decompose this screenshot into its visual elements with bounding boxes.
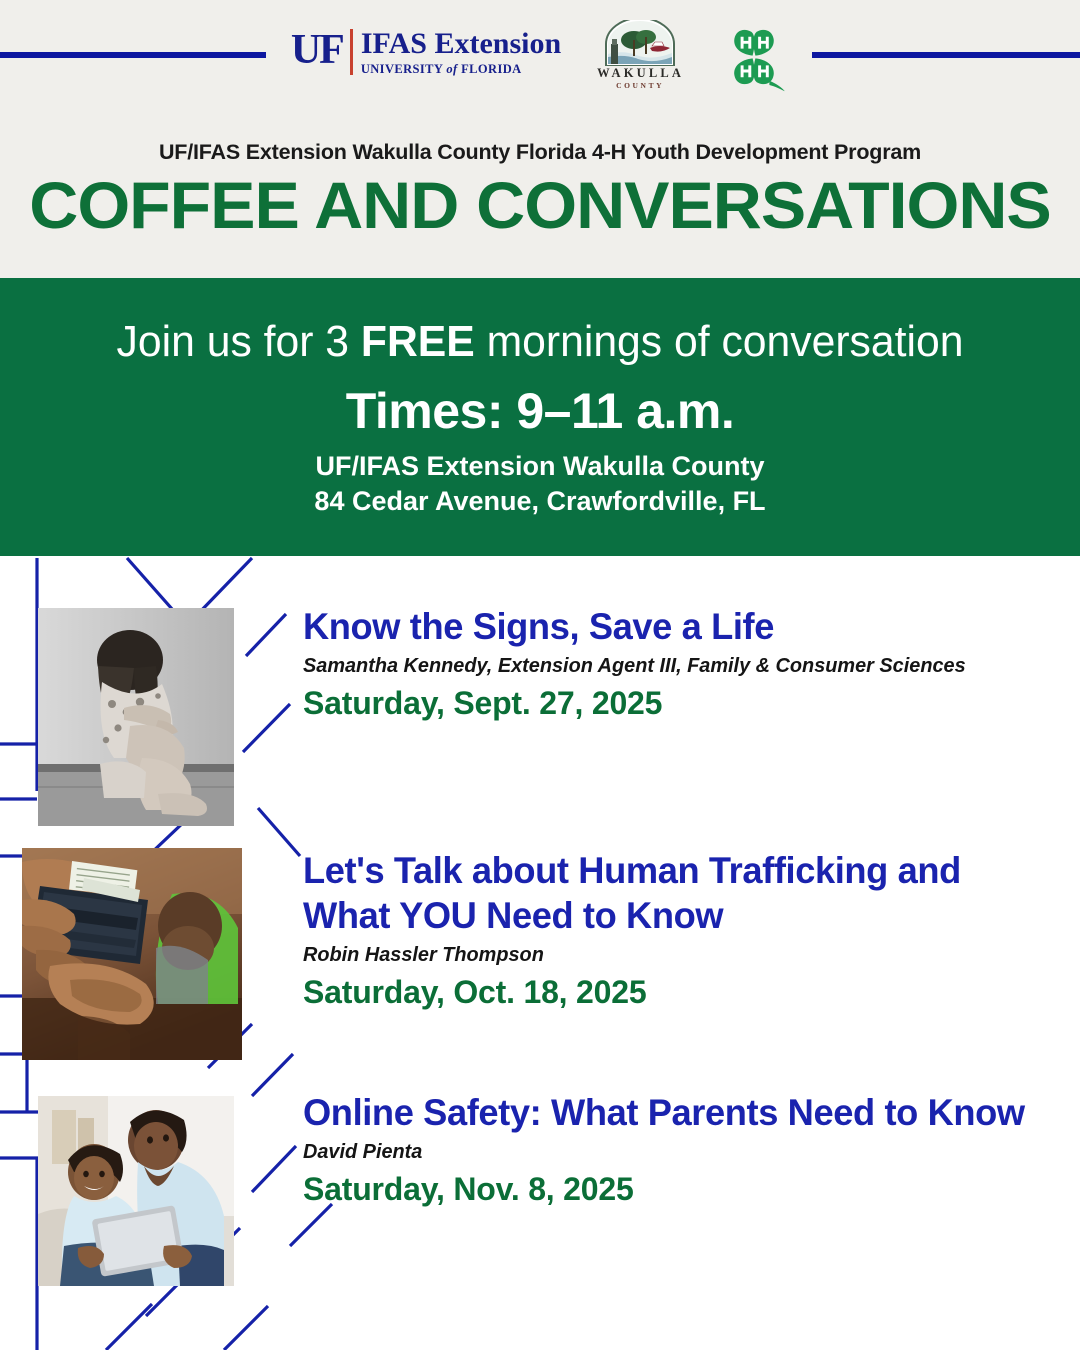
wakulla-seal-icon <box>602 20 678 66</box>
event-date: Saturday, Oct. 18, 2025 <box>303 972 1043 1012</box>
event-photo-know-the-signs <box>38 608 234 826</box>
info-banner: Join us for 3 FREE mornings of conversat… <box>0 278 1080 556</box>
event-text-block: Know the Signs, Save a Life Samantha Ken… <box>303 604 1033 723</box>
page-pretitle: UF/IFAS Extension Wakulla County Florida… <box>0 140 1080 165</box>
event-text-block: Online Safety: What Parents Need to Know… <box>303 1090 1043 1209</box>
banner-times: Times: 9–11 a.m. <box>0 382 1080 440</box>
banner-line1-post: mornings of conversation <box>475 317 964 366</box>
four-h-clover-icon <box>719 22 789 92</box>
event-speaker: Samantha Kennedy, Extension Agent III, F… <box>303 652 1011 680</box>
header-band: UF IFAS Extension UNIVERSITY of FLORIDA <box>0 0 1080 278</box>
uf-university-wordmark: UNIVERSITY of FLORIDA <box>361 61 561 77</box>
logo-row: UF IFAS Extension UNIVERSITY of FLORIDA <box>0 18 1080 96</box>
banner-free-emphasis: FREE <box>361 317 475 366</box>
event-date: Saturday, Sept. 27, 2025 <box>303 683 1033 723</box>
page-title: COFFEE AND CONVERSATIONS <box>0 170 1080 240</box>
event-speaker: David Pienta <box>303 1138 1021 1166</box>
uf-monogram-icon: UF <box>291 29 350 71</box>
events-list: Know the Signs, Save a Life Samantha Ken… <box>0 556 1080 1350</box>
event-photo-online-safety <box>38 1096 234 1286</box>
banner-line1-pre: Join us for 3 <box>117 317 361 366</box>
uf-divider-bar <box>350 29 353 75</box>
uf-ifas-extension-logo: UF IFAS Extension UNIVERSITY of FLORIDA <box>291 29 561 85</box>
banner-venue: UF/IFAS Extension Wakulla County <box>0 448 1080 484</box>
banner-line-free-mornings: Join us for 3 FREE mornings of conversat… <box>16 316 1064 368</box>
event-speaker: Robin Hassler Thompson <box>303 941 1021 969</box>
wakulla-name-text: WAKULLA <box>597 66 683 81</box>
event-date: Saturday, Nov. 8, 2025 <box>303 1169 1043 1209</box>
event-title: Online Safety: What Parents Need to Know <box>303 1090 1028 1135</box>
wakulla-county-text: COUNTY <box>597 81 683 90</box>
uf-ifas-wordmark: IFAS Extension <box>361 29 561 59</box>
event-title: Know the Signs, Save a Life <box>303 604 1018 649</box>
event-photo-human-trafficking <box>22 848 242 1060</box>
wakulla-county-logo: WAKULLA COUNTY <box>597 20 683 94</box>
event-text-block: Let's Talk about Human Trafficking and W… <box>303 848 1043 1012</box>
banner-address: 84 Cedar Avenue, Crawfordville, FL <box>0 483 1080 519</box>
event-title: Let's Talk about Human Trafficking and W… <box>303 848 1028 938</box>
